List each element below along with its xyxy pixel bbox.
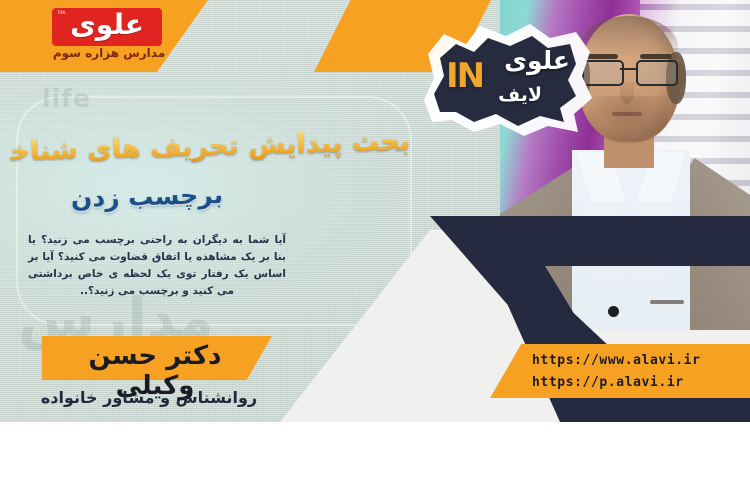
artboard: life مدارس [0, 0, 750, 422]
url-primary[interactable]: https://www.alavi.ir [532, 350, 701, 372]
alavi-live-badge: IN علوی لایف [418, 18, 598, 140]
in-monogram-icon: IN [446, 56, 483, 96]
eyebrow-right [640, 54, 672, 59]
beard-shadow [588, 96, 668, 144]
lens-right [636, 60, 678, 86]
life-watermark: life [42, 84, 91, 113]
poster: life مدارس [0, 0, 750, 480]
logo-alavi-word: علوی [70, 11, 144, 39]
badge-live-word: لایف [498, 84, 542, 106]
logo-subtitle: مدارس هزاره سوم [34, 46, 184, 60]
badge-text-group: IN علوی لایف [418, 18, 598, 140]
url-list: https://www.alavi.ir https://p.alavi.ir [532, 350, 701, 394]
logo-tiny-tag: life [58, 10, 66, 16]
jacket-pocket [650, 300, 684, 304]
url-secondary[interactable]: https://p.alavi.ir [532, 372, 701, 394]
glasses-bridge [620, 68, 636, 70]
alavi-logo-box: life علوی [52, 8, 162, 46]
body-paragraph: آیا شما به دیگران به راحتی برچسب می زنید… [28, 232, 286, 300]
jacket-button [608, 306, 619, 317]
presenter-role: روانشناس و مشاور خانواده [36, 388, 262, 407]
badge-alavi-word: علوی [504, 46, 570, 75]
